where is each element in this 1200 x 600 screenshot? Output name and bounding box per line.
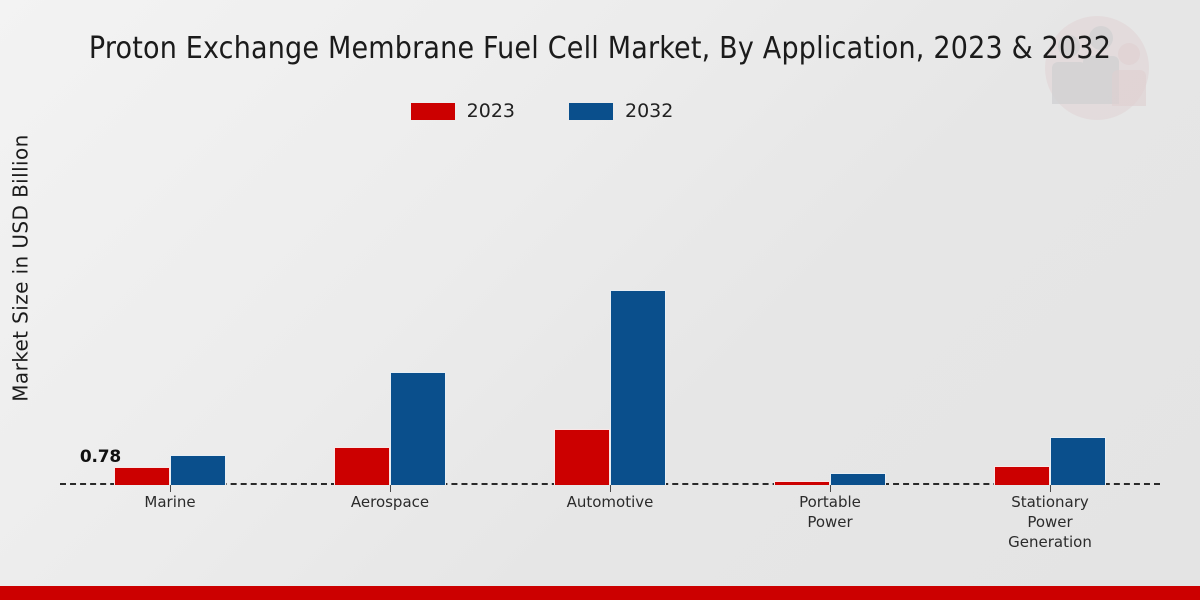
bar-group — [334, 150, 446, 485]
footer-accent-bar — [0, 586, 1200, 600]
x-axis-tick-label: Automotive — [500, 492, 720, 512]
bar-2023-Stationary-Power-Generation[interactable] — [994, 466, 1050, 485]
bar-value-label: 0.78 — [80, 447, 121, 467]
legend-label-2032: 2032 — [625, 102, 673, 121]
x-axis-tick-label: Stationary Power Generation — [940, 492, 1160, 552]
bar-2023-Marine[interactable]: 0.78 — [114, 467, 170, 485]
x-axis-tick-label: Portable Power — [720, 492, 940, 532]
y-axis-title: Market Size in USD Billion — [4, 0, 38, 600]
x-axis-tick-mark — [610, 485, 611, 492]
bar-2032-Automotive[interactable] — [610, 290, 666, 485]
x-axis-tick-mark — [170, 485, 171, 492]
bar-group — [774, 150, 886, 485]
plot-area: 0.78 — [60, 150, 1160, 485]
bar-2032-Marine[interactable] — [170, 455, 226, 485]
bar-2023-Automotive[interactable] — [554, 429, 610, 485]
legend-item-2023[interactable]: 2023 — [411, 102, 515, 121]
chart-title: Proton Exchange Membrane Fuel Cell Marke… — [0, 30, 1200, 68]
bar-2032-Stationary-Power-Generation[interactable] — [1050, 437, 1106, 485]
legend-item-2032[interactable]: 2032 — [569, 102, 673, 121]
bar-2023-Portable-Power[interactable] — [774, 481, 830, 485]
bar-2032-Aerospace[interactable] — [390, 372, 446, 485]
chart-legend: 2023 2032 — [0, 102, 1200, 121]
x-axis-tick-mark — [830, 485, 831, 492]
bar-group — [554, 150, 666, 485]
bar-group — [994, 150, 1106, 485]
legend-swatch-blue-icon — [569, 103, 613, 120]
x-axis-tick-label: Marine — [60, 492, 280, 512]
x-axis-tick-label: Aerospace — [280, 492, 500, 512]
legend-label-2023: 2023 — [467, 102, 515, 121]
bar-2023-Aerospace[interactable] — [334, 447, 390, 485]
bar-group: 0.78 — [114, 150, 226, 485]
bar-2032-Portable-Power[interactable] — [830, 473, 886, 485]
legend-swatch-red-icon — [411, 103, 455, 120]
x-axis-tick-mark — [390, 485, 391, 492]
x-axis-tick-mark — [1050, 485, 1051, 492]
chart-figure: Proton Exchange Membrane Fuel Cell Marke… — [0, 0, 1200, 600]
y-axis-title-text: Market Size in USD Billion — [9, 134, 33, 401]
